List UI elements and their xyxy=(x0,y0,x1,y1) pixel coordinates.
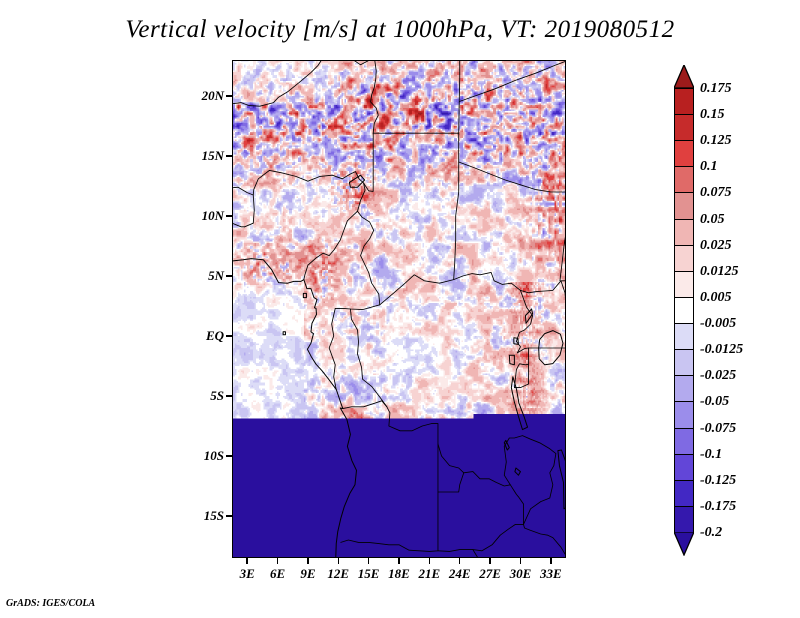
colorbar-tick-label: 0.005 xyxy=(700,290,732,306)
lon-tick-mark xyxy=(550,558,552,564)
lat-tick-label: 15S xyxy=(184,508,224,524)
lon-tick-mark xyxy=(246,558,248,564)
lat-tick-mark xyxy=(226,395,232,397)
colorbar-extend-min-arrow xyxy=(674,532,694,556)
colorbar-band xyxy=(674,401,694,428)
lon-tick-label: 9E xyxy=(300,566,315,582)
lon-tick-mark xyxy=(307,558,309,564)
colorbar-tick-label: -0.025 xyxy=(700,368,736,384)
colorbar-tick-label: -0.2 xyxy=(700,525,722,541)
lon-tick-mark xyxy=(520,558,522,564)
colorbar-band xyxy=(674,454,694,481)
grads-figure: Vertical velocity [m/s] at 1000hPa, VT: … xyxy=(0,0,800,618)
colorbar-extend-max-arrow xyxy=(674,65,694,89)
lat-tick-label: EQ xyxy=(184,328,224,344)
colorbar[interactable] xyxy=(674,65,694,555)
colorbar-tick-label: 0.05 xyxy=(700,212,725,228)
lon-tick-mark xyxy=(338,558,340,564)
lat-tick-mark xyxy=(226,215,232,217)
lat-tick-label: 10N xyxy=(184,208,224,224)
lon-tick-mark xyxy=(277,558,279,564)
lat-tick-mark xyxy=(226,515,232,517)
lon-tick-label: 24E xyxy=(449,566,471,582)
colorbar-band xyxy=(674,506,694,533)
colorbar-band xyxy=(674,140,694,167)
colorbar-band xyxy=(674,323,694,350)
lat-tick-mark xyxy=(226,155,232,157)
colorbar-band xyxy=(674,349,694,376)
colorbar-tick-label: 0.025 xyxy=(700,238,732,254)
colorbar-band xyxy=(674,114,694,141)
lon-tick-label: 15E xyxy=(358,566,380,582)
lat-tick-label: 15N xyxy=(184,148,224,164)
lon-tick-label: 21E xyxy=(419,566,441,582)
lon-tick-label: 30E xyxy=(510,566,532,582)
colorbar-band xyxy=(674,245,694,272)
colorbar-tick-label: 0.0125 xyxy=(700,264,739,280)
lon-tick-mark xyxy=(368,558,370,564)
colorbar-tick-label: 0.1 xyxy=(700,159,718,175)
lon-tick-label: 18E xyxy=(388,566,410,582)
colorbar-band xyxy=(674,166,694,193)
lon-tick-label: 27E xyxy=(479,566,501,582)
lon-tick-mark xyxy=(489,558,491,564)
lat-tick-label: 20N xyxy=(184,88,224,104)
colorbar-band xyxy=(674,271,694,298)
page-title: Vertical velocity [m/s] at 1000hPa, VT: … xyxy=(0,16,800,44)
colorbar-tick-label: -0.05 xyxy=(700,394,729,410)
lon-tick-mark xyxy=(459,558,461,564)
lon-tick-label: 33E xyxy=(540,566,562,582)
colorbar-band xyxy=(674,375,694,402)
lon-tick-mark xyxy=(398,558,400,564)
lat-tick-mark xyxy=(226,335,232,337)
lon-tick-label: 3E xyxy=(240,566,255,582)
lat-tick-mark xyxy=(226,95,232,97)
map-plot-area[interactable] xyxy=(232,60,566,558)
lat-tick-label: 5S xyxy=(184,388,224,404)
colorbar-band xyxy=(674,219,694,246)
colorbar-tick-label: -0.005 xyxy=(700,316,736,332)
lat-tick-label: 10S xyxy=(184,448,224,464)
lon-tick-label: 6E xyxy=(270,566,285,582)
colorbar-tick-label: 0.125 xyxy=(700,133,732,149)
lon-tick-mark xyxy=(429,558,431,564)
colorbar-tick-label: 0.075 xyxy=(700,185,732,201)
colorbar-band xyxy=(674,88,694,115)
colorbar-tick-label: 0.175 xyxy=(700,81,732,97)
vertical-velocity-field xyxy=(232,60,566,558)
lat-tick-mark xyxy=(226,455,232,457)
lat-tick-label: 5N xyxy=(184,268,224,284)
colorbar-band xyxy=(674,428,694,455)
lat-tick-mark xyxy=(226,275,232,277)
colorbar-tick-label: -0.075 xyxy=(700,421,736,437)
grads-attribution: GrADS: IGES/COLA xyxy=(6,598,95,609)
colorbar-tick-label: -0.0125 xyxy=(700,342,743,358)
colorbar-tick-label: -0.1 xyxy=(700,447,722,463)
colorbar-tick-label: 0.15 xyxy=(700,107,725,123)
colorbar-tick-label: -0.175 xyxy=(700,499,736,515)
lon-tick-label: 12E xyxy=(327,566,349,582)
colorbar-tick-label: -0.125 xyxy=(700,473,736,489)
colorbar-band xyxy=(674,192,694,219)
colorbar-band xyxy=(674,480,694,507)
colorbar-band xyxy=(674,297,694,324)
